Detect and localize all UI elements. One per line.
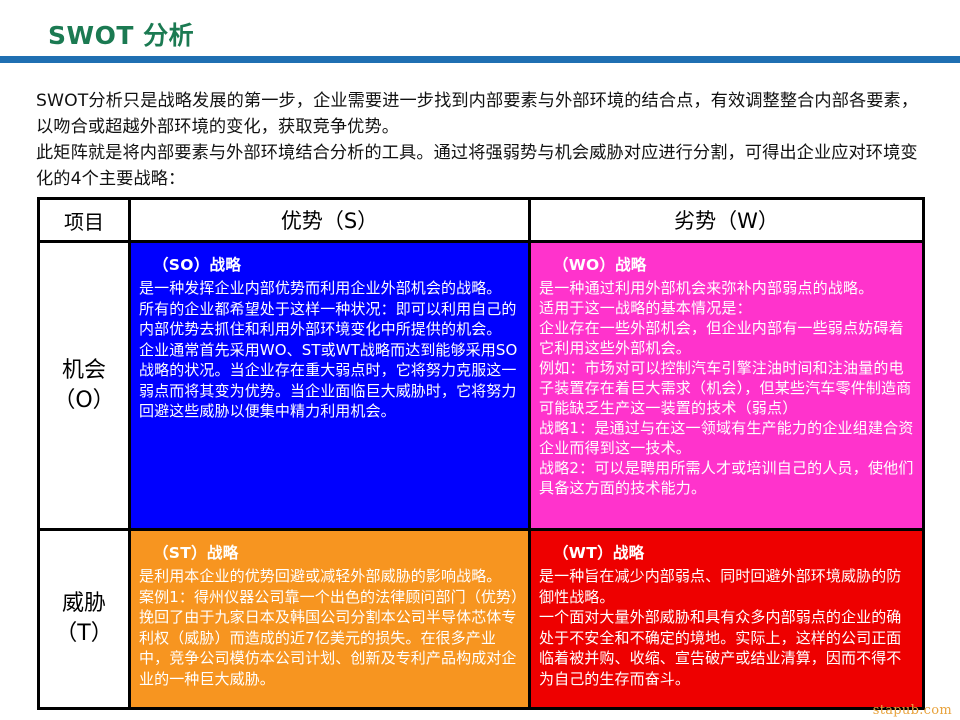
- strategy-title-st: （ST）战略: [153, 541, 520, 563]
- slide-header: SWOT 分析: [0, 0, 960, 62]
- table-row-opportunity: 机会 （O） （SO）战略 是一种发挥企业内部优势而利用企业外部机会的战略。所有…: [40, 243, 922, 531]
- table-header-row: 项目 优势（S） 劣势（W）: [40, 200, 922, 243]
- table-row-threat: 威胁 （T） （ST）战略 是利用本企业的优势回避或减轻外部威胁的影响战略。案例…: [40, 531, 922, 707]
- strategy-body-wt: 是一种旨在减少内部弱点、同时回避外部环境威胁的防御性战略。一个面对大量外部威胁和…: [539, 566, 914, 689]
- header-cell-weakness: 劣势（W）: [531, 200, 922, 243]
- swot-matrix-table: 项目 优势（S） 劣势（W） 机会 （O） （SO）战略 是一种发挥企业内部优势…: [37, 197, 925, 710]
- strategy-title-wo: （WO）战略: [553, 253, 914, 275]
- strategy-body-st: 是利用本企业的优势回避或减轻外部威胁的影响战略。案例1：得州仪器公司靠一个出色的…: [139, 566, 520, 689]
- strategy-cell-wo: （WO）战略 是一种通过利用外部机会来弥补内部弱点的战略。适用于这一战略的基本情…: [531, 243, 922, 531]
- page-title: SWOT 分析: [48, 16, 194, 52]
- strategy-title-so: （SO）战略: [153, 253, 520, 275]
- strategy-body-so: 是一种发挥企业内部优势而利用企业外部机会的战略。所有的企业都希望处于这样一种状况…: [139, 278, 520, 422]
- header-divider: [0, 56, 960, 63]
- row-label-opportunity-line2: （O）: [53, 386, 114, 416]
- row-label-threat-line2: （T）: [55, 619, 112, 649]
- row-label-threat: 威胁 （T）: [40, 531, 131, 707]
- row-label-threat-line1: 威胁: [62, 589, 106, 619]
- header-cell-item: 项目: [40, 200, 131, 243]
- row-label-opportunity-line1: 机会: [62, 356, 106, 386]
- strategy-body-wo: 是一种通过利用外部机会来弥补内部弱点的战略。适用于这一战略的基本情况是：企业存在…: [539, 278, 914, 498]
- intro-paragraph-1: SWOT分析只是战略发展的第一步，企业需要进一步找到内部要素与外部环境的结合点，…: [36, 88, 930, 140]
- slide-page: SWOT 分析 SWOT分析只是战略发展的第一步，企业需要进一步找到内部要素与外…: [0, 0, 960, 720]
- intro-paragraph-2: 此矩阵就是将内部要素与外部环境结合分析的工具。通过将强弱势与机会威胁对应进行分割…: [36, 140, 930, 192]
- strategy-cell-so: （SO）战略 是一种发挥企业内部优势而利用企业外部机会的战略。所有的企业都希望处…: [131, 243, 531, 531]
- strategy-title-wt: （WT）战略: [553, 541, 914, 563]
- row-label-opportunity: 机会 （O）: [40, 243, 131, 531]
- watermark: stapub.com: [873, 703, 952, 718]
- header-cell-strength: 优势（S）: [131, 200, 531, 243]
- intro-text-block: SWOT分析只是战略发展的第一步，企业需要进一步找到内部要素与外部环境的结合点，…: [36, 88, 930, 192]
- strategy-cell-st: （ST）战略 是利用本企业的优势回避或减轻外部威胁的影响战略。案例1：得州仪器公…: [131, 531, 531, 707]
- strategy-cell-wt: （WT）战略 是一种旨在减少内部弱点、同时回避外部环境威胁的防御性战略。一个面对…: [531, 531, 922, 707]
